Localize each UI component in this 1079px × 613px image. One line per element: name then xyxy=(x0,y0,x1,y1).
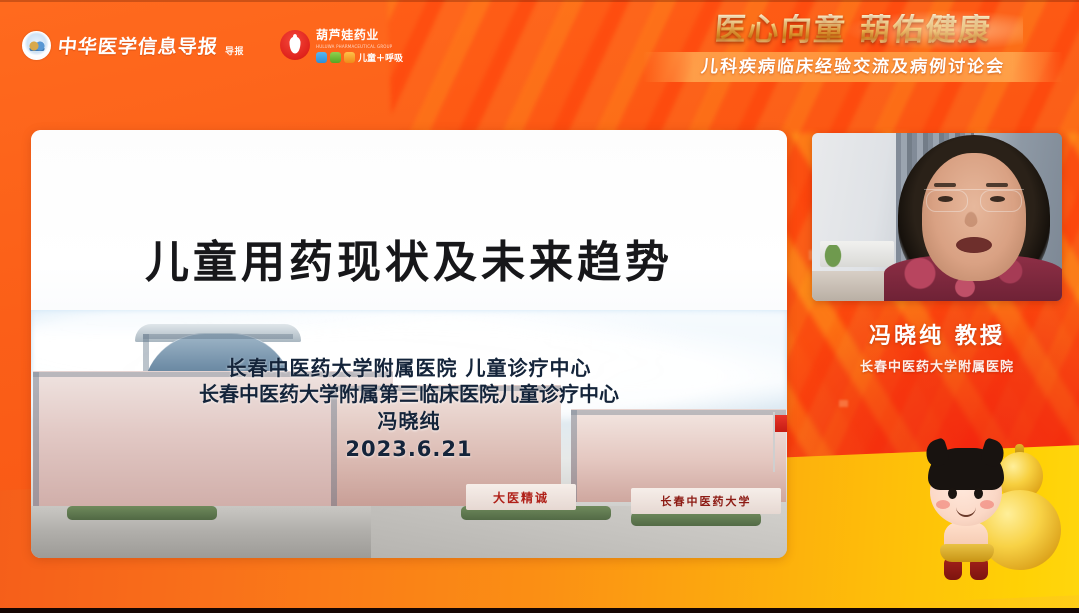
event-subtitle: 儿科疾病临床经验交流及病例讨论会 xyxy=(642,52,1065,82)
slide-subtitle-line-1: 长春中医药大学附属医院 儿童诊疗中心 xyxy=(31,355,787,381)
mascot-cheek xyxy=(980,500,994,509)
cma-logo-suffix: 导报 xyxy=(225,44,244,57)
sponsor-slogan: 儿童＋呼吸 xyxy=(358,51,403,64)
photo-hedge xyxy=(631,512,761,526)
slide-subtitle-line-4: 2023.6.21 xyxy=(31,435,787,464)
event-title: 医心向童 葫佑健康 xyxy=(642,14,1065,47)
presentation-slide[interactable]: 儿童用药现状及未来趋势 大医精诚 长春中医药大学 长春中医药大学附属医院 儿童诊… xyxy=(31,130,787,558)
video-speaker-brow xyxy=(934,183,956,187)
mascot-leaf-skirt xyxy=(940,544,994,562)
webinar-screen: 中华医学信息导报 导报 葫芦娃药业 HULUWA PHARMACEUTICAL … xyxy=(0,0,1079,613)
slide-subtitle-line-3: 冯晓纯 xyxy=(31,408,787,436)
photo-hedge xyxy=(67,506,217,520)
cma-logo-text: 中华医学信息导报 xyxy=(57,32,220,59)
event-subtitle-wrap: 儿科疾病临床经验交流及病例讨论会 xyxy=(643,52,1063,82)
mascot-eye xyxy=(948,488,957,499)
video-speaker-eye xyxy=(938,196,953,202)
sponsor-text-block: 葫芦娃药业 HULUWA PHARMACEUTICAL GROUP 儿童＋呼吸 xyxy=(316,26,403,64)
video-speaker-eye xyxy=(990,196,1005,202)
sponsor-icon-green xyxy=(330,52,341,63)
photo-sign-left: 大医精诚 xyxy=(466,484,576,510)
video-speaker-mouth xyxy=(956,237,992,253)
event-header: 医心向童 葫佑健康 儿科疾病临床经验交流及病例讨论会 xyxy=(643,14,1063,82)
slide-subtitle-line-2: 长春中医药大学附属第三临床医院儿童诊疗中心 xyxy=(31,381,787,407)
speaker-organization: 长春中医药大学附属医院 xyxy=(812,356,1062,375)
slide-title: 儿童用药现状及未来趋势 xyxy=(31,226,787,290)
gourd-badge-icon xyxy=(280,30,310,60)
speaker-video-feed[interactable] xyxy=(812,133,1062,301)
bottom-letterbox-bar xyxy=(0,608,1079,613)
video-speaker-brow xyxy=(986,183,1008,187)
video-speaker-nose xyxy=(964,211,978,227)
gourd-boy-mascot xyxy=(920,440,1065,590)
mascot-cheek xyxy=(936,500,950,509)
sponsor-icon-blue xyxy=(316,52,327,63)
cma-seal-icon xyxy=(22,31,51,60)
sponsor-name: 葫芦娃药业 xyxy=(316,26,403,43)
speaker-name: 冯晓纯 教授 xyxy=(812,318,1062,350)
sponsor-icon-row: 儿童＋呼吸 xyxy=(316,51,403,64)
logo-cma: 中华医学信息导报 导报 xyxy=(22,31,244,60)
top-letterbox-bar xyxy=(0,0,1079,2)
sponsor-tagline-en: HULUWA PHARMACEUTICAL GROUP xyxy=(316,45,403,49)
speaker-caption: 冯晓纯 教授 长春中医药大学附属医院 xyxy=(812,318,1062,375)
video-plant xyxy=(822,245,844,271)
header-logos: 中华医学信息导报 导报 葫芦娃药业 HULUWA PHARMACEUTICAL … xyxy=(22,26,403,64)
sponsor-icon-orange xyxy=(344,52,355,63)
mascot-boy xyxy=(920,440,1016,586)
logo-sponsor: 葫芦娃药业 HULUWA PHARMACEUTICAL GROUP 儿童＋呼吸 xyxy=(280,26,403,64)
slide-subtitle-block: 长春中医药大学附属医院 儿童诊疗中心 长春中医药大学附属第三临床医院儿童诊疗中心… xyxy=(31,355,787,464)
mascot-eye xyxy=(974,488,983,499)
photo-sign-right: 长春中医药大学 xyxy=(631,488,781,514)
